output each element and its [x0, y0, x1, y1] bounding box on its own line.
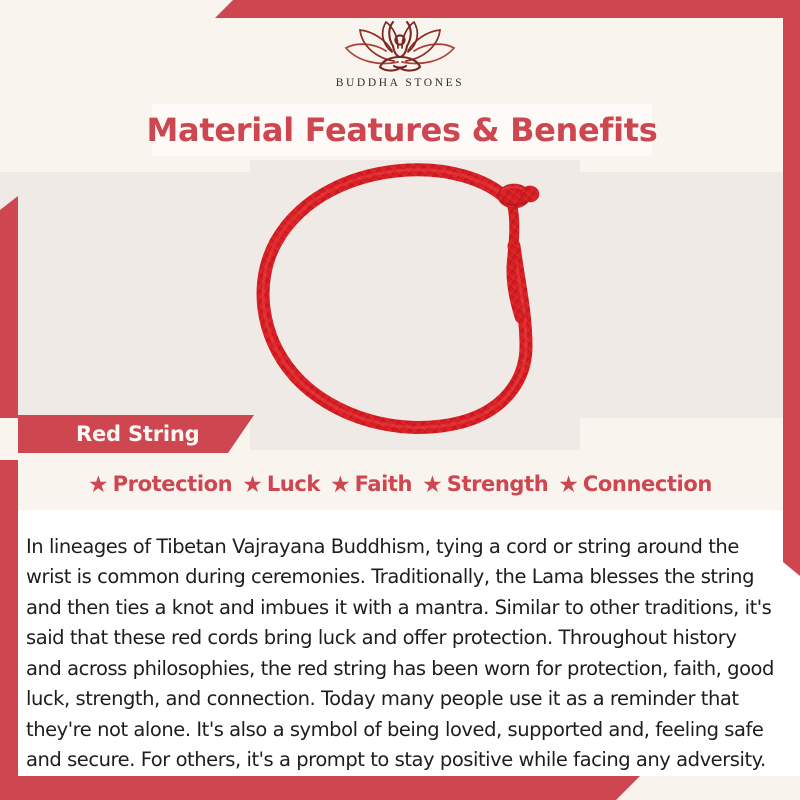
product-tag-banner: Red String: [18, 415, 254, 453]
benefits-list: ★ Protection ★ Luck ★ Faith ★ Strength ★…: [18, 466, 782, 502]
decor-bar-left-upper: [0, 196, 18, 418]
decor-bar-left-lower: [0, 460, 18, 776]
benefit-label: Protection: [113, 472, 233, 496]
page-title: Material Features & Benefits: [152, 104, 652, 156]
star-icon: ★: [330, 473, 351, 496]
star-icon: ★: [422, 473, 443, 496]
brand-logo: BUDDHA STONES: [0, 18, 800, 103]
lotus-meditation-icon: [336, 18, 464, 76]
star-icon: ★: [88, 473, 109, 496]
brand-wordmark: BUDDHA STONES: [336, 77, 464, 89]
benefit-label: Faith: [355, 472, 412, 496]
benefit-label: Strength: [447, 472, 549, 496]
benefit-item-luck: ★ Luck: [242, 472, 320, 496]
benefit-item-connection: ★ Connection: [558, 472, 712, 496]
star-icon: ★: [558, 473, 579, 496]
benefit-label: Connection: [583, 472, 712, 496]
infographic-page: BUDDHA STONES Material Features & Benefi…: [0, 0, 800, 800]
description-paragraph: In lineages of Tibetan Vajrayana Buddhis…: [26, 532, 774, 776]
decor-bar-top: [215, 0, 800, 18]
star-icon: ★: [242, 473, 263, 496]
red-braided-bracelet-photo: [250, 160, 580, 450]
benefit-label: Luck: [267, 472, 320, 496]
benefit-item-faith: ★ Faith: [330, 472, 412, 496]
product-tag-label: Red String: [76, 422, 199, 446]
benefit-item-strength: ★ Strength: [422, 472, 548, 496]
decor-bar-bottom: [0, 776, 640, 800]
benefit-item-protection: ★ Protection: [88, 472, 232, 496]
